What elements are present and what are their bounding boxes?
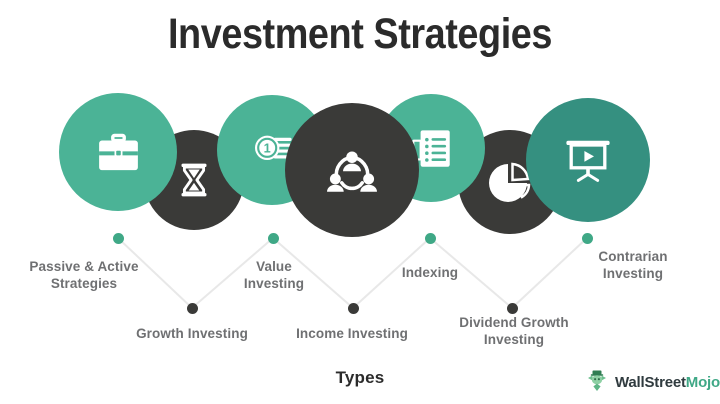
presentation-icon — [558, 130, 618, 190]
wallstreetmojo-bull-icon — [584, 368, 610, 397]
node-growth-dot — [187, 303, 198, 314]
network-people-icon — [320, 138, 384, 202]
icon-circle-4 — [285, 103, 419, 237]
node-income-dot — [348, 303, 359, 314]
node-dividend-growth-dot — [507, 303, 518, 314]
svg-text:1: 1 — [263, 140, 270, 155]
node-growth-label: Growth Investing — [113, 325, 271, 342]
briefcase-icon — [90, 124, 147, 181]
icon-circle-1 — [59, 93, 177, 211]
node-dividend-growth-label: Dividend GrowthInvesting — [443, 314, 585, 348]
node-income-label: Income Investing — [273, 325, 431, 342]
icon-circle-7 — [526, 98, 650, 222]
node-contrarian-dot — [582, 233, 593, 244]
logo-text-mojo: Mojo — [686, 374, 720, 391]
logo-wordmark: WallStreetMojo — [615, 374, 720, 391]
node-passive-active-dot — [113, 233, 124, 244]
logo-text-wallstreet: WallStreet — [615, 374, 686, 391]
page-title: Investment Strategies — [43, 10, 677, 59]
node-indexing-label: Indexing — [382, 264, 478, 281]
wallstreetmojo-logo[interactable]: WallStreetMojo — [584, 368, 720, 397]
node-indexing-dot — [425, 233, 436, 244]
node-value-dot — [268, 233, 279, 244]
node-passive-active-label: Passive & ActiveStrategies — [24, 258, 144, 292]
node-value-label: ValueInvesting — [228, 258, 320, 292]
infographic-canvas: Investment Strategies 1 — [0, 0, 720, 404]
hourglass-icon — [170, 156, 218, 204]
node-contrarian-label: ContrarianInvesting — [575, 248, 691, 282]
